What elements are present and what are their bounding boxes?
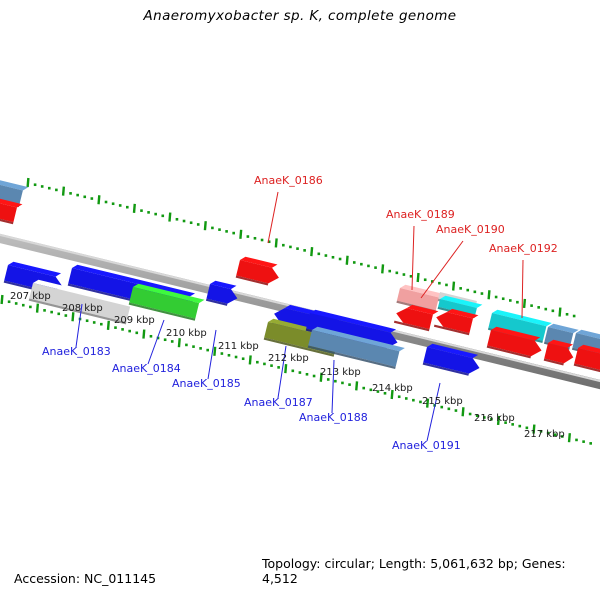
genome-summary-text: Topology: circular; Length: 5,061,632 bp…: [262, 556, 600, 586]
genome-map-canvas[interactable]: AnaeK_0186AnaeK_0189AnaeK_0190AnaeK_0192…: [0, 0, 600, 600]
gene-name-label[interactable]: AnaeK_0190: [436, 223, 505, 236]
gene-name-label[interactable]: AnaeK_0191: [392, 439, 461, 452]
scale-tick-label: 208 kbp: [62, 303, 103, 314]
gene-name-label[interactable]: AnaeK_0189: [386, 208, 455, 221]
label-leader-line: [148, 320, 164, 364]
scale-tick-label: 216 kbp: [474, 413, 515, 424]
gene-name-label[interactable]: AnaeK_0184: [112, 362, 181, 375]
label-leader-line: [522, 260, 523, 318]
scale-tick-label: 207 kbp: [10, 291, 51, 302]
gene-glyph[interactable]: [544, 339, 577, 368]
gene-name-label[interactable]: AnaeK_0186: [254, 174, 323, 187]
scale-tick-label: 217 kbp: [524, 429, 565, 440]
scale-tick-label: 212 kbp: [268, 353, 309, 364]
scale-tick-label: 215 kbp: [422, 396, 463, 407]
label-leader-line: [427, 383, 440, 441]
scale-tick-label: 214 kbp: [372, 383, 413, 394]
scale-tick-label: 210 kbp: [166, 328, 207, 339]
accession-text: Accession: NC_011145: [14, 571, 156, 586]
gene-name-label[interactable]: AnaeK_0183: [42, 345, 111, 358]
label-leader-line: [421, 241, 463, 298]
gene-name-label[interactable]: AnaeK_0187: [244, 396, 313, 409]
scale-tick-label: 209 kbp: [114, 315, 155, 326]
scale-tick-label: 213 kbp: [320, 367, 361, 378]
gene-name-label[interactable]: AnaeK_0192: [489, 242, 558, 255]
label-leader-line: [412, 226, 414, 290]
gene-name-label[interactable]: AnaeK_0185: [172, 377, 241, 390]
label-leader-line: [268, 192, 278, 243]
gene-name-label[interactable]: AnaeK_0188: [299, 411, 368, 424]
gene-glyph[interactable]: [236, 256, 282, 288]
scale-tick-label: 211 kbp: [218, 341, 259, 352]
